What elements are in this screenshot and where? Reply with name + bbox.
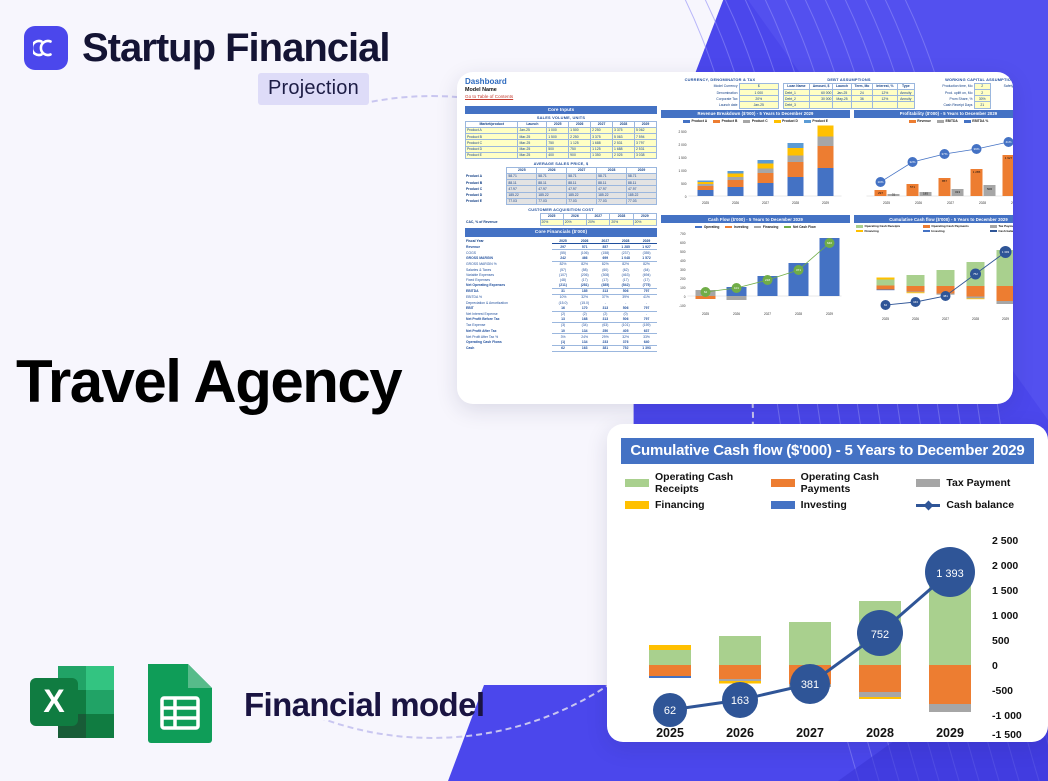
svg-text:752: 752 (973, 272, 978, 276)
y-axis-labels: 2 500 2 000 1 500 1 000 500 0 -500 -1 00… (992, 535, 1022, 741)
revenue-breakdown-title: Revenue Breakdown ($'000) - 5 Years to D… (661, 110, 850, 118)
fin-row-value: 1 393 (636, 345, 657, 351)
svg-text:-1 000: -1 000 (992, 710, 1022, 722)
brand-title: Startup Financial (82, 28, 390, 68)
svg-text:163: 163 (731, 695, 749, 707)
legend-item: Operating Cash Receipts (625, 471, 771, 495)
svg-text:2027: 2027 (762, 201, 769, 205)
fin-row-value: 381 (595, 345, 615, 351)
table-row: GROSS MARGIN %82%82%82%82%82% (465, 261, 657, 267)
svg-text:1 000: 1 000 (992, 610, 1018, 622)
svg-text:700: 700 (680, 232, 686, 236)
footer-formats: X Financial model (28, 660, 484, 749)
core-financials-table: Fiscal Year 2025 2026 2027 2028 2029 Rev… (465, 238, 657, 352)
cash-flow-chart[interactable]: Cash Flow ($'000) - 5 Years to December … (661, 214, 850, 327)
svg-text:32%: 32% (909, 160, 915, 164)
svg-text:-100: -100 (679, 304, 686, 308)
svg-text:0: 0 (684, 295, 686, 299)
bar-group-2025 (649, 645, 691, 678)
table-row: Product E 77.03 77.03 77.03 77.03 77.03 (465, 198, 657, 204)
svg-text:506: 506 (987, 187, 992, 191)
table-row: Variable Expenses(107)(206)(308)(463)(69… (465, 272, 657, 277)
svg-text:2 000: 2 000 (992, 560, 1018, 572)
svg-text:X: X (43, 683, 65, 719)
cash-flow-title: Cash Flow ($'000) - 5 Years to December … (661, 215, 850, 223)
legend-swatch (625, 501, 649, 509)
svg-text:62: 62 (704, 290, 708, 294)
debt-table: Loan Name Amount, $ Launch Term, Mo Inte… (783, 83, 915, 109)
fin-row-value: 62 (552, 345, 574, 351)
svg-text:2028: 2028 (866, 726, 894, 740)
svg-text:2025: 2025 (656, 726, 684, 740)
svg-text:2025: 2025 (702, 312, 709, 316)
svg-text:500: 500 (681, 182, 687, 186)
fin-row-label: Cash (465, 345, 552, 351)
svg-text:2029: 2029 (822, 201, 829, 205)
svg-text:2026: 2026 (726, 726, 754, 740)
svg-text:10%: 10% (877, 180, 883, 184)
svg-text:313: 313 (955, 190, 960, 194)
svg-text:2025: 2025 (882, 317, 889, 321)
profitability-plot: 29731 571185 857313 1 285506 1 927797 (854, 124, 1013, 210)
svg-text:1 500: 1 500 (679, 156, 687, 160)
svg-text:41%: 41% (1005, 140, 1011, 144)
svg-text:1 393: 1 393 (936, 568, 964, 580)
brand-header: Startup Financial (24, 26, 390, 70)
dashboard-preview-card[interactable]: Dashboard Model Name Go to Table of Cont… (457, 72, 1013, 404)
svg-text:200: 200 (680, 277, 686, 281)
svg-text:2 000: 2 000 (679, 143, 687, 147)
svg-text:2028: 2028 (795, 312, 802, 316)
average-price-table: 2025 2026 2027 2028 2029 Product A 58.71… (465, 167, 657, 205)
svg-text:185: 185 (923, 191, 928, 195)
svg-text:62: 62 (884, 303, 888, 307)
safety-stock-table: Safety Stock, % 10% (993, 83, 1013, 90)
bar-group-2026 (719, 636, 761, 684)
svg-text:752: 752 (871, 629, 889, 641)
svg-text:100: 100 (680, 286, 686, 290)
svg-text:2 500: 2 500 (679, 130, 687, 134)
svg-text:-1 500: -1 500 (992, 729, 1022, 741)
cumulative-cashflow-legend: Operating Cash Receipts Operating Cash P… (625, 471, 1030, 511)
core-inputs-band: Core Inputs (465, 106, 657, 115)
dashboard-title: Dashboard (465, 78, 657, 87)
svg-text:2026: 2026 (915, 201, 922, 205)
revenue-breakdown-chart[interactable]: Revenue Breakdown ($'000) - 5 Years to D… (661, 108, 850, 211)
profitability-title: Profitability ($'000) - 5 Years to Decem… (854, 110, 1013, 118)
svg-text:371: 371 (796, 268, 801, 272)
svg-text:500: 500 (680, 250, 686, 254)
legend-swatch (916, 479, 940, 487)
svg-text:300: 300 (680, 268, 686, 272)
svg-text:2025: 2025 (883, 201, 890, 205)
currency-table: Model Currency$ Denomination1 000 Corpor… (661, 83, 779, 109)
svg-text:640: 640 (827, 241, 832, 245)
cumulative-cashflow-mini-chart[interactable]: Cumulative Cash flow ($'000) - 5 Years t… (854, 214, 1013, 327)
cumulative-cashflow-card[interactable]: Cumulative Cash flow ($'000) - 5 Years t… (607, 424, 1048, 742)
svg-text:381: 381 (943, 294, 948, 298)
excel-icon: X (28, 660, 116, 749)
svg-text:297: 297 (878, 191, 883, 195)
cumulative-mini-plot: 2 5002 0001 5001 000 5000-500-1 000-1 50… (854, 234, 1013, 324)
revenue-breakdown-plot: 2 5002 0001 500 1 0005000 (661, 124, 850, 210)
svg-text:218: 218 (765, 278, 770, 282)
slide-canvas: Startup Financial Projection Travel Agen… (0, 0, 1048, 781)
svg-text:571: 571 (910, 185, 915, 189)
working-capital-table: Production time, Mo2 Prod. uplift on, Mo… (919, 83, 991, 109)
svg-text:62: 62 (664, 705, 676, 717)
table-row: Safety Stock, % 10% (993, 83, 1013, 89)
svg-text:2029: 2029 (1011, 201, 1013, 205)
dashboard-subtitle: Model Name (465, 87, 657, 94)
svg-text:400: 400 (680, 259, 686, 263)
table-row: Product E Mar-25 400 900 1 350 2 025 3 0… (466, 152, 657, 158)
svg-text:101: 101 (734, 286, 739, 290)
svg-text:1 927: 1 927 (1005, 156, 1013, 160)
legend-item: Operating Cash Payments (771, 471, 917, 495)
cash-flow-plot: 700600500400 3002001000-100 (661, 229, 850, 325)
svg-text:37%: 37% (941, 152, 947, 156)
svg-text:2026: 2026 (912, 317, 919, 321)
profitability-chart[interactable]: Profitability ($'000) - 5 Years to Decem… (854, 108, 1013, 211)
projection-badge: Projection (258, 73, 369, 105)
cac-table: 2025 2026 2027 2028 2029 CAC, % of Reven… (465, 213, 657, 226)
svg-text:2028: 2028 (792, 201, 799, 205)
cumulative-cashflow-plot: 2 500 2 000 1 500 1 000 500 0 -500 -1 00… (607, 532, 1048, 742)
svg-text:39%: 39% (973, 147, 979, 151)
svg-text:2025: 2025 (702, 201, 709, 205)
sales-volume-table: Market/product Launch 2025 2026 2027 202… (465, 121, 657, 159)
svg-text:1 000: 1 000 (679, 169, 687, 173)
legend-swatch (771, 479, 795, 487)
fin-row-value: 752 (615, 345, 636, 351)
x-axis-labels: 2025 2026 2027 2028 2029 (656, 726, 964, 740)
svg-text:163: 163 (913, 300, 918, 304)
svg-text:2027: 2027 (764, 312, 771, 316)
page-title: Travel Agency (16, 352, 401, 412)
svg-text:1 285: 1 285 (973, 170, 981, 174)
table-of-contents-link[interactable]: Go to Table of Contents (465, 94, 657, 100)
svg-text:2027: 2027 (796, 726, 824, 740)
google-sheets-icon (142, 660, 218, 749)
svg-text:0: 0 (992, 660, 998, 672)
legend-swatch (625, 479, 649, 487)
legend-line-marker (916, 500, 940, 510)
svg-text:2027: 2027 (942, 317, 949, 321)
legend-item: Tax Payment (916, 471, 1030, 495)
svg-text:857: 857 (942, 179, 947, 183)
cumulative-mini-title: Cumulative Cash flow ($'000) - 5 Years t… (854, 215, 1013, 223)
cumulative-cashflow-title: Cumulative Cash flow ($'000) - 5 Years t… (621, 438, 1034, 464)
svg-text:31: 31 (892, 192, 896, 196)
svg-text:2029: 2029 (1002, 317, 1009, 321)
svg-text:2029: 2029 (936, 726, 964, 740)
legend-item: Financing (625, 499, 771, 511)
table-row: CAC, % of Revenue 20% 20% 20% 20% 20% (465, 219, 657, 225)
footer-label: Financial model (244, 686, 484, 724)
svg-text:-500: -500 (992, 685, 1013, 697)
cumulative-mini-legend: Operating Cash Receipts Operating Cash P… (854, 225, 1013, 234)
svg-text:1 393: 1 393 (1002, 250, 1010, 254)
fin-row-value: 163 (574, 345, 596, 351)
svg-text:2029: 2029 (826, 312, 833, 316)
svg-text:0: 0 (685, 195, 687, 199)
legend-item: Cash balance (916, 499, 1030, 511)
svg-text:2027: 2027 (947, 201, 954, 205)
svg-text:2026: 2026 (732, 201, 739, 205)
legend-item: Investing (771, 499, 917, 511)
svg-text:2 500: 2 500 (992, 535, 1018, 547)
core-financials-band: Core Financials ($'000) (465, 228, 657, 237)
svg-text:381: 381 (801, 679, 819, 691)
infinity-logo-icon (24, 26, 68, 70)
legend-swatch (771, 501, 795, 509)
svg-text:2026: 2026 (733, 312, 740, 316)
svg-text:500: 500 (992, 635, 1010, 647)
svg-text:2028: 2028 (972, 317, 979, 321)
table-row: Cash621633817521 393 (465, 345, 657, 351)
svg-text:1 500: 1 500 (992, 585, 1018, 597)
svg-text:600: 600 (680, 241, 686, 245)
svg-text:2028: 2028 (979, 201, 986, 205)
table-row: Net Profit After Tax %3%24%29%32%33% (465, 334, 657, 340)
